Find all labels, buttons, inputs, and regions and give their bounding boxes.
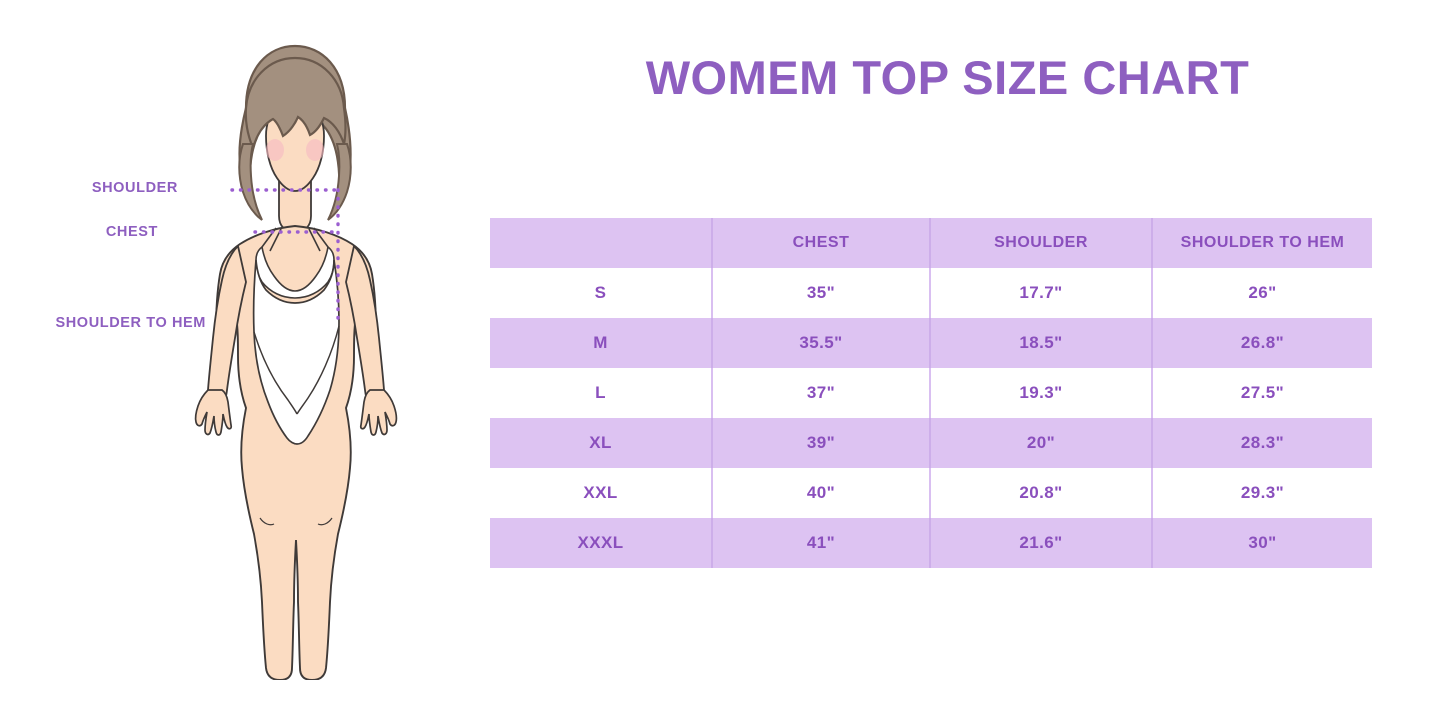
blush-right — [306, 139, 324, 161]
table-header-row: CHEST SHOULDER SHOULDER TO HEM — [490, 218, 1372, 268]
table-row: L 37" 19.3" 27.5" — [490, 368, 1372, 418]
cell-shoulder-to-hem: 26" — [1152, 268, 1372, 318]
figure-panel: SHOULDER CHEST SHOULDER TO HEM — [0, 0, 470, 723]
table-row: XXXL 41" 21.6" 30" — [490, 518, 1372, 568]
cell-chest: 41" — [712, 518, 930, 568]
hand-right — [361, 390, 397, 435]
cell-size: M — [490, 318, 712, 368]
cell-shoulder: 20.8" — [930, 468, 1152, 518]
cell-chest: 35.5" — [712, 318, 930, 368]
cell-shoulder: 19.3" — [930, 368, 1152, 418]
hair-side-left — [239, 144, 262, 220]
table-body: S 35" 17.7" 26" M 35.5" 18.5" 26.8" L 37… — [490, 268, 1372, 568]
cell-shoulder-to-hem: 30" — [1152, 518, 1372, 568]
table-row: S 35" 17.7" 26" — [490, 268, 1372, 318]
table-header-chest: CHEST — [712, 218, 930, 268]
female-body-illustration — [150, 40, 440, 680]
cell-shoulder-to-hem: 29.3" — [1152, 468, 1372, 518]
cell-size: XL — [490, 418, 712, 468]
blush-left — [266, 139, 284, 161]
cell-size: L — [490, 368, 712, 418]
table-header: CHEST SHOULDER SHOULDER TO HEM — [490, 218, 1372, 268]
cell-chest: 39" — [712, 418, 930, 468]
table-header-size — [490, 218, 712, 268]
hand-left — [196, 390, 232, 435]
measure-label-chest: CHEST — [0, 224, 158, 240]
cell-shoulder: 18.5" — [930, 318, 1152, 368]
size-chart-page: SHOULDER CHEST SHOULDER TO HEM — [0, 0, 1445, 723]
cell-chest: 35" — [712, 268, 930, 318]
table-row: XXL 40" 20.8" 29.3" — [490, 468, 1372, 518]
cell-shoulder: 17.7" — [930, 268, 1152, 318]
cell-chest: 40" — [712, 468, 930, 518]
size-table: CHEST SHOULDER SHOULDER TO HEM S 35" 17.… — [490, 218, 1372, 568]
cell-shoulder-to-hem: 26.8" — [1152, 318, 1372, 368]
cell-shoulder: 20" — [930, 418, 1152, 468]
cell-chest: 37" — [712, 368, 930, 418]
hair-side-right — [328, 144, 351, 220]
cell-shoulder-to-hem: 28.3" — [1152, 418, 1372, 468]
page-title: WOMEM TOP SIZE CHART — [470, 50, 1425, 105]
size-table-container: CHEST SHOULDER SHOULDER TO HEM S 35" 17.… — [490, 218, 1372, 568]
table-header-shoulder-to-hem: SHOULDER TO HEM — [1152, 218, 1372, 268]
cell-size: S — [490, 268, 712, 318]
cell-size: XXXL — [490, 518, 712, 568]
cell-size: XXL — [490, 468, 712, 518]
table-row: XL 39" 20" 28.3" — [490, 418, 1372, 468]
table-row: M 35.5" 18.5" 26.8" — [490, 318, 1372, 368]
table-header-shoulder: SHOULDER — [930, 218, 1152, 268]
cell-shoulder-to-hem: 27.5" — [1152, 368, 1372, 418]
cell-shoulder: 21.6" — [930, 518, 1152, 568]
